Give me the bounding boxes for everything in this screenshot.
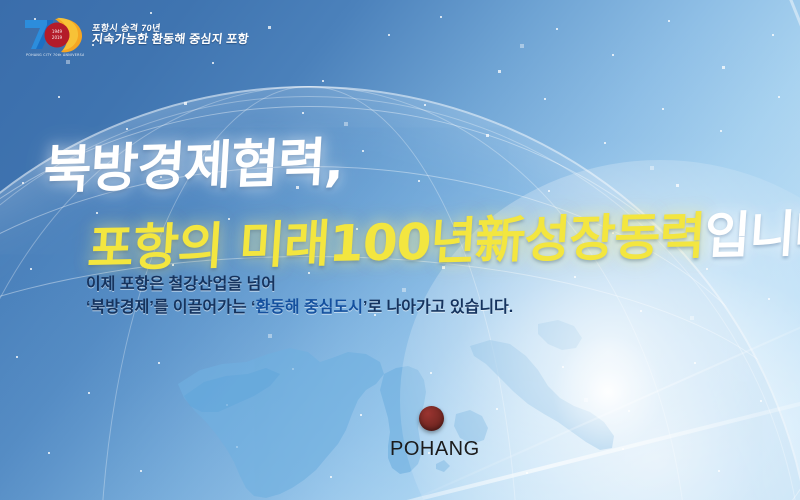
headline-line-2-hanja: 新성장동력 bbox=[474, 207, 707, 270]
pohang-70th-logo: 1949 2019 POHANG CITY 70th ANNIVERSARY 포… bbox=[22, 12, 249, 58]
body-copy-block: 이제 포항은 철강산업을 넘어 ‘북방경제’를 이끌어가는 ‘환동해 중심도시’… bbox=[86, 274, 513, 319]
body-copy-line-2-post: ’로 나아가고 있습니다. bbox=[363, 299, 513, 316]
svg-text:POHANG CITY 70th ANNIVERSARY: POHANG CITY 70th ANNIVERSARY bbox=[26, 53, 84, 57]
body-copy-line-2-pre: ‘북방경제’를 이끌어가는 ‘ bbox=[86, 299, 255, 316]
svg-text:2019: 2019 bbox=[52, 35, 63, 40]
promotional-banner: 1949 2019 POHANG CITY 70th ANNIVERSARY 포… bbox=[0, 0, 800, 500]
pohang-location-dot bbox=[419, 406, 444, 431]
pohang-70th-anniversary-emblem: 1949 2019 POHANG CITY 70th ANNIVERSARY bbox=[22, 12, 84, 58]
pohang-location-label: POHANG bbox=[390, 438, 476, 461]
headline-block: 북방경제협력, 포항의 미래100년新성장동력입니다. bbox=[44, 128, 764, 281]
svg-text:1949: 1949 bbox=[52, 29, 63, 34]
body-copy-line-2: ‘북방경제’를 이끌어가는 ‘환동해 중심도시’로 나아가고 있습니다. bbox=[86, 297, 513, 320]
logo-caption-line-2: 지속가능한 환동해 중심지 포항 bbox=[91, 33, 249, 46]
headline-line-2-suffix: 입니다. bbox=[702, 204, 800, 265]
body-copy-line-1: 이제 포항은 철강산업을 넘어 bbox=[86, 274, 513, 297]
light-beam-vertical bbox=[681, 0, 800, 122]
headline-line-2: 포항의 미래100년新성장동력입니다. bbox=[86, 195, 767, 281]
headline-line-2-korean: 포항의 미래100년 bbox=[86, 212, 478, 278]
body-copy-accent: 환동해 중심도시 bbox=[255, 299, 363, 316]
